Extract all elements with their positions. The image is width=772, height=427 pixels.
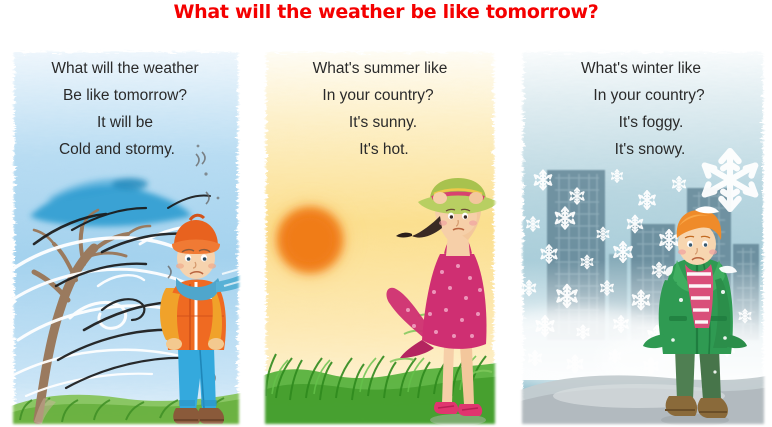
boy-pants-left <box>675 348 695 400</box>
caption-line: It's snowy. <box>533 136 767 163</box>
boy-boot-left <box>666 396 697 416</box>
panel-summer: What's summer like In your country? It's… <box>262 48 498 427</box>
summer-caption: What's summer like In your country? It's… <box>262 55 498 163</box>
panel-stormy: What will the weather Be like tomorrow? … <box>10 48 242 427</box>
sun <box>262 188 362 292</box>
caption-line: It's hot. <box>270 136 498 163</box>
panel-winter: What's winter like In your country? It's… <box>519 48 767 427</box>
girl-leg-left <box>442 346 454 404</box>
boy-boots <box>173 408 200 424</box>
caption-line: Be like tomorrow? <box>10 82 242 109</box>
caption-line: In your country? <box>262 82 498 109</box>
caption-line: What's summer like <box>262 55 498 82</box>
caption-line: What's winter like <box>519 55 767 82</box>
weather-worksheet-page: What will the weather be like tomorrow? <box>0 0 772 427</box>
caption-line: Cold and stormy. <box>10 136 242 163</box>
stormy-caption: What will the weather Be like tomorrow? … <box>10 55 242 163</box>
snow-ground <box>519 374 767 427</box>
caption-line: It will be <box>10 109 242 136</box>
caption-line: What will the weather <box>10 55 242 82</box>
girl-sandal-right <box>458 404 482 416</box>
caption-line: It's foggy. <box>535 109 767 136</box>
winter-caption: What's winter like In your country? It's… <box>519 55 767 163</box>
caption-line: It's sunny. <box>268 109 498 136</box>
caption-line: In your country? <box>531 82 767 109</box>
page-title: What will the weather be like tomorrow? <box>0 1 772 23</box>
boy-boot-right <box>698 398 728 418</box>
girl-sandal-left <box>434 402 458 414</box>
